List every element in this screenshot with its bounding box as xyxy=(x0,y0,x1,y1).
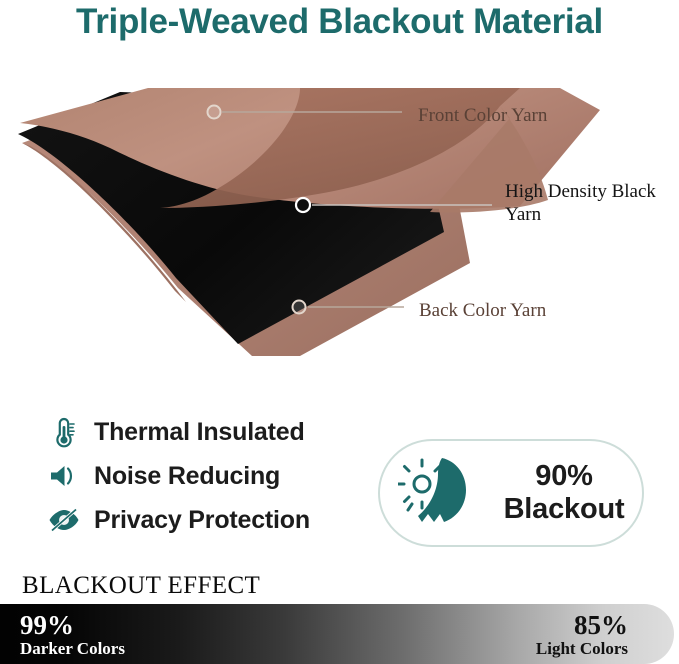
blackout-percentage-badge: 90% Blackout xyxy=(378,439,644,547)
sun-blocked-curtain-icon xyxy=(394,453,478,533)
darker-colors-caption: Darker Colors xyxy=(20,639,125,659)
feature-list: Thermal Insulated Noise Reducing Privacy… xyxy=(44,410,354,542)
thermometer-icon xyxy=(44,414,84,450)
darker-colors-percent: 99% xyxy=(20,611,125,639)
callout-label-back-color-yarn: Back Color Yarn xyxy=(419,299,546,322)
eye-slash-icon xyxy=(44,502,84,538)
callout-label-high-density-black-yarn: High Density Black Yarn xyxy=(505,180,665,226)
page-title: Triple-Weaved Blackout Material xyxy=(0,2,679,42)
light-colors-caption: Light Colors xyxy=(536,639,628,659)
feature-item-noise-reducing: Noise Reducing xyxy=(44,454,354,498)
feature-label-noise-reducing: Noise Reducing xyxy=(94,462,280,491)
badge-text-block: 90% Blackout xyxy=(486,460,642,526)
feature-label-thermal-insulated: Thermal Insulated xyxy=(94,418,305,447)
callout-marker-black xyxy=(296,198,310,212)
feature-item-thermal-insulated: Thermal Insulated xyxy=(44,410,354,454)
speaker-sound-icon xyxy=(44,458,84,494)
callout-label-front-color-yarn: Front Color Yarn xyxy=(418,104,547,127)
blackout-effect-light-colors: 85% Light Colors xyxy=(536,611,628,659)
feature-label-privacy-protection: Privacy Protection xyxy=(94,506,310,535)
badge-percent: 90% xyxy=(535,460,592,492)
badge-label: Blackout xyxy=(504,493,625,525)
blackout-effect-heading: BLACKOUT EFFECT xyxy=(22,572,260,600)
blackout-effect-gradient-bar: 99% Darker Colors 85% Light Colors xyxy=(0,604,674,664)
feature-item-privacy-protection: Privacy Protection xyxy=(44,498,354,542)
blackout-effect-darker-colors: 99% Darker Colors xyxy=(20,611,125,659)
callout-marker-front xyxy=(208,106,221,119)
light-colors-percent: 85% xyxy=(536,611,628,639)
callout-marker-back xyxy=(293,301,306,314)
